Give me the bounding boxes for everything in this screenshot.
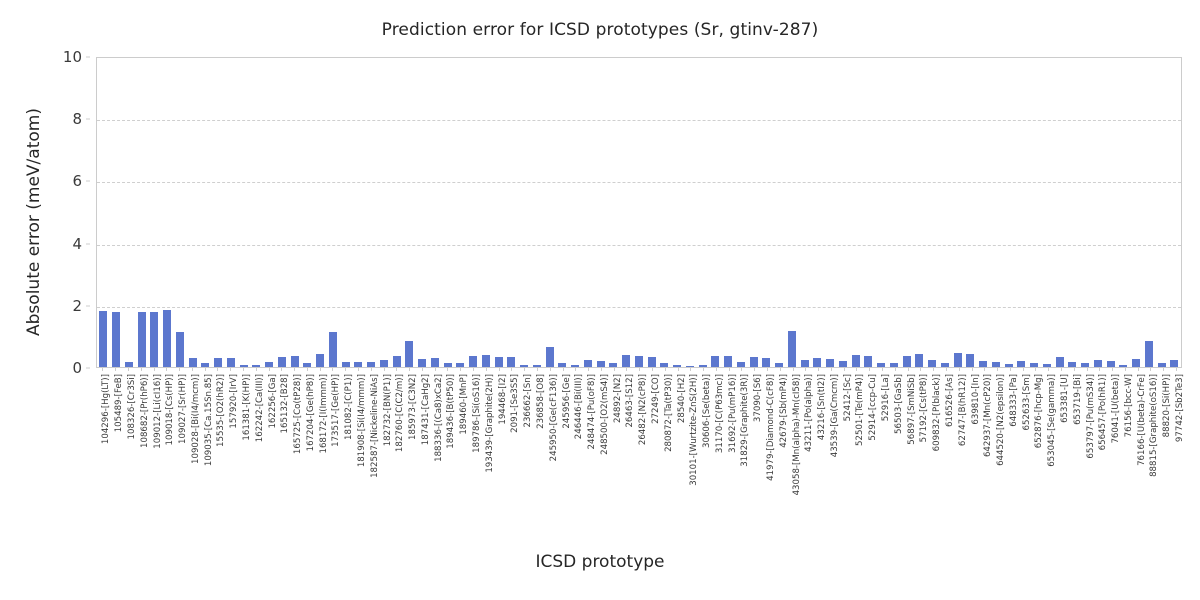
- bar-slot: [824, 58, 837, 367]
- bar[interactable]: [584, 360, 592, 367]
- bar[interactable]: [214, 358, 222, 367]
- x-tick-mark: [614, 368, 615, 371]
- bar[interactable]: [1043, 364, 1051, 367]
- bar-slot: [1079, 58, 1092, 367]
- bar[interactable]: [1068, 362, 1076, 367]
- bar[interactable]: [112, 312, 120, 367]
- x-tick-mark: [141, 368, 142, 371]
- x-tick: 76166-[U(beta)-CrFe]: [1131, 368, 1144, 518]
- x-tick-mark: [230, 368, 231, 371]
- x-tick: 76156-[bcc-W]: [1119, 368, 1132, 518]
- x-tick-mark: [371, 368, 372, 371]
- y-tick-label: 8: [72, 110, 82, 128]
- bar-slot: [684, 58, 697, 367]
- bar-slot: [339, 58, 352, 367]
- x-tick: 609832-[P(black)]: [927, 368, 940, 518]
- x-tick: 189436-[B(tP50)]: [441, 368, 454, 518]
- bar[interactable]: [597, 361, 605, 367]
- x-tick-mark: [1061, 368, 1062, 371]
- x-tick: 648333-[Pa]: [1003, 368, 1016, 518]
- bar[interactable]: [482, 355, 490, 367]
- bar[interactable]: [1119, 365, 1127, 367]
- bar[interactable]: [469, 356, 477, 368]
- bar-slot: [1117, 58, 1130, 367]
- x-tick-mark: [984, 368, 985, 371]
- y-tick-mark: [86, 243, 90, 244]
- bar[interactable]: [813, 358, 821, 367]
- x-tick: 57192-[Cs(tP8)]: [914, 368, 927, 518]
- bar[interactable]: [227, 358, 235, 367]
- bar-slot: [327, 58, 340, 367]
- x-tick: 248474-[Pu(oF8)]: [582, 368, 595, 518]
- chart-title: Prediction error for ICSD prototypes (Sr…: [0, 20, 1200, 40]
- bar[interactable]: [316, 354, 324, 367]
- bar-slot: [964, 58, 977, 367]
- bar-slot: [811, 58, 824, 367]
- x-tick-mark: [831, 368, 832, 371]
- x-tick: 652876-[hcp-Mg]: [1029, 368, 1042, 518]
- x-tick: 31170-[C(P63mc)]: [710, 368, 723, 518]
- bar[interactable]: [660, 363, 668, 367]
- x-tick-mark: [856, 368, 857, 371]
- x-tick: 28540-[H2]: [671, 368, 684, 518]
- bar[interactable]: [533, 365, 541, 367]
- bar[interactable]: [673, 365, 681, 367]
- bar-slot: [531, 58, 544, 367]
- bar[interactable]: [1170, 360, 1178, 367]
- bar-slot: [556, 58, 569, 367]
- bar-slot: [403, 58, 416, 367]
- bar[interactable]: [839, 361, 847, 367]
- bar-slot: [773, 58, 786, 367]
- x-tick-mark: [1048, 368, 1049, 371]
- x-tick-mark: [805, 368, 806, 371]
- x-tick-mark: [396, 368, 397, 371]
- bar-slot: [352, 58, 365, 367]
- y-tick-mark: [86, 119, 90, 120]
- bar[interactable]: [750, 357, 758, 367]
- x-tick: 245950-[Ge(cF136)]: [543, 368, 556, 518]
- x-tick: 97742-[Sb2Te3]: [1170, 368, 1183, 518]
- bar[interactable]: [941, 363, 949, 367]
- bar[interactable]: [1107, 361, 1115, 367]
- x-tick-mark: [690, 368, 691, 371]
- bar[interactable]: [240, 365, 248, 367]
- y-tick-label: 2: [72, 297, 82, 315]
- x-tick-mark: [294, 368, 295, 371]
- bar[interactable]: [762, 358, 770, 367]
- bar-slot: [569, 58, 582, 367]
- bar[interactable]: [431, 358, 439, 367]
- y-tick-label: 0: [72, 359, 82, 377]
- x-tick-mark: [703, 368, 704, 371]
- bar-slot: [110, 58, 123, 367]
- x-tick: 652633-[Sm]: [1016, 368, 1029, 518]
- x-axis-ticks: 104296-[Hg(LT)]105489-[FeB]108326-[Cr3Si…: [96, 368, 1182, 518]
- plot-area: [96, 57, 1182, 368]
- bar[interactable]: [992, 362, 1000, 367]
- x-tick: 616526-[As]: [940, 368, 953, 518]
- x-tick-mark: [626, 368, 627, 371]
- bar[interactable]: [495, 357, 503, 367]
- bar[interactable]: [954, 353, 962, 367]
- x-tick: 108326-[Cr3Si]: [122, 368, 135, 518]
- bar-slot: [505, 58, 518, 367]
- bar[interactable]: [201, 363, 209, 367]
- bar[interactable]: [418, 359, 426, 367]
- bar-slot: [747, 58, 760, 367]
- bar[interactable]: [737, 362, 745, 367]
- x-tick-mark: [550, 368, 551, 371]
- bar[interactable]: [342, 362, 350, 367]
- x-tick-mark: [409, 368, 410, 371]
- x-tick-mark: [1138, 368, 1139, 371]
- x-tick-mark: [818, 368, 819, 371]
- x-tick: 181082-[C(P1)]: [339, 368, 352, 518]
- x-tick: 104296-[Hg(LT)]: [96, 368, 109, 518]
- bar-slot: [263, 58, 276, 367]
- x-tick-mark: [384, 368, 385, 371]
- x-tick-mark: [524, 368, 525, 371]
- x-tick: 162242-[Ca(III)]: [249, 368, 262, 518]
- bar-slot: [518, 58, 531, 367]
- bar[interactable]: [648, 357, 656, 367]
- bar[interactable]: [903, 356, 911, 367]
- x-tick: 27249-[CO]: [646, 368, 659, 518]
- x-tick-mark: [128, 368, 129, 371]
- bar[interactable]: [915, 354, 923, 367]
- bar-slot: [990, 58, 1003, 367]
- bar[interactable]: [354, 362, 362, 367]
- bar-slot: [1015, 58, 1028, 367]
- x-axis-label: ICSD prototype: [0, 552, 1200, 572]
- bar-slot: [390, 58, 403, 367]
- bar[interactable]: [979, 361, 987, 367]
- x-tick-mark: [332, 368, 333, 371]
- x-tick-mark: [281, 368, 282, 371]
- x-tick: 31829-[Graphite(3R)]: [735, 368, 748, 518]
- x-tick-mark: [601, 368, 602, 371]
- bar-slot: [237, 58, 250, 367]
- bar-slot: [1104, 58, 1117, 367]
- bar[interactable]: [1158, 363, 1166, 367]
- x-tick: 109028-[Bi(I4/mcm)]: [185, 368, 198, 518]
- x-tick-mark: [767, 368, 768, 371]
- x-tick: 42679-[Sb(mP4)]: [773, 368, 786, 518]
- x-tick-mark: [1099, 368, 1100, 371]
- bar[interactable]: [724, 356, 732, 367]
- bar[interactable]: [864, 356, 872, 368]
- x-tick-mark: [115, 368, 116, 371]
- x-tick: 162256-[Ga]: [262, 368, 275, 518]
- x-tick: 52916-[La]: [876, 368, 889, 518]
- bar[interactable]: [138, 312, 146, 367]
- y-axis-ticks: 0246810: [0, 57, 90, 368]
- x-tick-mark: [741, 368, 742, 371]
- bar-slot: [837, 58, 850, 367]
- bar[interactable]: [571, 365, 579, 367]
- bar[interactable]: [558, 363, 566, 367]
- x-tick-mark: [652, 368, 653, 371]
- x-tick: 43216-[Sn(tI2)]: [812, 368, 825, 518]
- x-tick-mark: [882, 368, 883, 371]
- bar[interactable]: [252, 365, 260, 367]
- bar[interactable]: [99, 311, 107, 367]
- bar-slot: [1066, 58, 1079, 367]
- bar-slot: [429, 58, 442, 367]
- bar[interactable]: [456, 363, 464, 367]
- bar-slot: [888, 58, 901, 367]
- x-tick-mark: [793, 368, 794, 371]
- x-tick: 52412-[Sc]: [837, 368, 850, 518]
- bar[interactable]: [303, 363, 311, 367]
- bar-slot: [798, 58, 811, 367]
- bar-slot: [288, 58, 301, 367]
- x-tick-mark: [946, 368, 947, 371]
- bar-slot: [696, 58, 709, 367]
- bar[interactable]: [826, 359, 834, 367]
- bar[interactable]: [189, 358, 197, 367]
- bar-slot: [1053, 58, 1066, 367]
- x-tick: 189460-[MnP]: [454, 368, 467, 518]
- x-tick-mark: [460, 368, 461, 371]
- bar[interactable]: [176, 332, 184, 367]
- bar-slot: [148, 58, 161, 367]
- x-tick: 165725-[Co(tP28)]: [288, 368, 301, 518]
- x-tick-mark: [1150, 368, 1151, 371]
- x-tick-mark: [179, 368, 180, 371]
- bar-slot: [951, 58, 964, 367]
- bar-slot: [480, 58, 493, 367]
- x-tick: 245956-[Ge]: [556, 368, 569, 518]
- bar[interactable]: [1132, 359, 1140, 367]
- x-tick-mark: [205, 368, 206, 371]
- x-tick-mark: [511, 368, 512, 371]
- x-tick: 173517-[Ge(HP)]: [326, 368, 339, 518]
- x-tick: 182587-[Nickeline-NiAs]: [364, 368, 377, 518]
- bar[interactable]: [265, 362, 273, 367]
- bar-slot: [1155, 58, 1168, 367]
- x-tick: 185973-[C3N2]: [403, 368, 416, 518]
- bar-slot: [735, 58, 748, 367]
- bar[interactable]: [788, 331, 796, 367]
- x-tick: 182760-[C(C2/m)]: [390, 368, 403, 518]
- x-tick-mark: [447, 368, 448, 371]
- x-tick: 165132-[B28]: [275, 368, 288, 518]
- x-tick-mark: [869, 368, 870, 371]
- bar[interactable]: [1005, 364, 1013, 367]
- x-tick: 30606-[Se(beta)]: [697, 368, 710, 518]
- bar-slot: [378, 58, 391, 367]
- chart-figure: Prediction error for ICSD prototypes (Sr…: [0, 0, 1200, 600]
- bar[interactable]: [890, 363, 898, 367]
- x-tick-mark: [997, 368, 998, 371]
- bar[interactable]: [699, 365, 707, 367]
- bar-slot: [301, 58, 314, 367]
- bar-slot: [1130, 58, 1143, 367]
- x-tick-mark: [780, 368, 781, 371]
- bar-slot: [161, 58, 174, 367]
- x-tick-mark: [473, 368, 474, 371]
- bar[interactable]: [1017, 361, 1025, 367]
- y-tick-label: 4: [72, 235, 82, 253]
- bar[interactable]: [367, 362, 375, 367]
- bar-slot: [225, 58, 238, 367]
- bar-slot: [135, 58, 148, 367]
- bar-slot: [1168, 58, 1181, 367]
- x-tick: 52501-[Te(mP4)]: [850, 368, 863, 518]
- x-tick: 109012-[Li(cI16)]: [147, 368, 160, 518]
- x-tick-mark: [588, 368, 589, 371]
- bar[interactable]: [801, 360, 809, 367]
- bar[interactable]: [635, 356, 643, 367]
- x-tick: 76041-[U(beta)]: [1106, 368, 1119, 518]
- x-tick-mark: [1035, 368, 1036, 371]
- bar-slot: [416, 58, 429, 367]
- x-tick: 236858-[O8]: [531, 368, 544, 518]
- x-tick: 41979-[Diamond-C(cF8)]: [761, 368, 774, 518]
- x-tick-mark: [320, 368, 321, 371]
- bar-slot: [1041, 58, 1054, 367]
- y-tick-mark: [86, 368, 90, 369]
- bar-slot: [722, 58, 735, 367]
- x-tick-mark: [307, 368, 308, 371]
- x-tick-mark: [499, 368, 500, 371]
- bar-slot: [633, 58, 646, 367]
- x-tick-mark: [933, 368, 934, 371]
- bar[interactable]: [1030, 363, 1038, 367]
- bar[interactable]: [775, 363, 783, 367]
- x-tick-mark: [1087, 368, 1088, 371]
- bar[interactable]: [1145, 341, 1153, 367]
- bar[interactable]: [1081, 363, 1089, 367]
- x-tick-mark: [422, 368, 423, 371]
- bar[interactable]: [507, 357, 515, 367]
- bar-slot: [862, 58, 875, 367]
- x-tick: 37090-[S6]: [748, 368, 761, 518]
- x-tick-mark: [1010, 368, 1011, 371]
- bar[interactable]: [163, 310, 171, 367]
- bar-slot: [212, 58, 225, 367]
- bar-slot: [658, 58, 671, 367]
- x-tick: 653797-[Pu(mS34)]: [1080, 368, 1093, 518]
- x-tick: 248500-[O2(mS4)]: [594, 368, 607, 518]
- x-tick-mark: [358, 368, 359, 371]
- bar-slot: [186, 58, 199, 367]
- x-tick-mark: [908, 368, 909, 371]
- x-tick: 189786-[Si(oS16)]: [467, 368, 480, 518]
- x-tick: 187431-[CaHg2]: [416, 368, 429, 518]
- x-tick: 15535-[O2(hR2)]: [211, 368, 224, 518]
- x-tick: 167204-[Ge(hP8)]: [301, 368, 314, 518]
- x-tick: 644520-[N2(epsilon)]: [991, 368, 1004, 518]
- x-tick-mark: [537, 368, 538, 371]
- bar-slot: [314, 58, 327, 367]
- bar[interactable]: [622, 355, 630, 367]
- x-tick: 236662-[Sn]: [518, 368, 531, 518]
- x-tick: 88815-[Graphite(oS16)]: [1144, 368, 1157, 518]
- bar[interactable]: [711, 356, 719, 367]
- x-tick: 653719-[Bi]: [1067, 368, 1080, 518]
- bar[interactable]: [125, 362, 133, 367]
- bar-slot: [926, 58, 939, 367]
- x-tick: 194468-[I2]: [492, 368, 505, 518]
- y-tick-mark: [86, 57, 90, 58]
- x-tick: 157920-[IrV]: [224, 368, 237, 518]
- x-tick-mark: [154, 368, 155, 371]
- x-tick-mark: [665, 368, 666, 371]
- y-tick-mark: [86, 305, 90, 306]
- bar-slot: [250, 58, 263, 367]
- bar[interactable]: [150, 312, 158, 367]
- bar[interactable]: [1094, 360, 1102, 367]
- bar[interactable]: [546, 347, 554, 367]
- bar[interactable]: [686, 366, 694, 367]
- x-tick-mark: [754, 368, 755, 371]
- x-tick-mark: [895, 368, 896, 371]
- x-tick-mark: [1112, 368, 1113, 371]
- bar[interactable]: [405, 341, 413, 367]
- bar[interactable]: [278, 357, 286, 367]
- bar-slot: [875, 58, 888, 367]
- bar-slot: [467, 58, 480, 367]
- x-tick: 280872-[Ta(tP30)]: [658, 368, 671, 518]
- x-tick: 109018-[Cs(HP)]: [160, 368, 173, 518]
- bar-slot: [594, 58, 607, 367]
- bar[interactable]: [380, 360, 388, 367]
- x-tick: 181908-[Si(I4/mmm)]: [352, 368, 365, 518]
- bar-slot: [671, 58, 684, 367]
- x-tick-mark: [729, 368, 730, 371]
- x-tick-mark: [1074, 368, 1075, 371]
- bar[interactable]: [329, 332, 337, 367]
- bar[interactable]: [393, 356, 401, 367]
- bar[interactable]: [444, 363, 452, 367]
- x-tick-mark: [1023, 368, 1024, 371]
- bar-slot: [276, 58, 289, 367]
- bar-slot: [900, 58, 913, 367]
- bar-slot: [1092, 58, 1105, 367]
- bar-slot: [849, 58, 862, 367]
- bar-slot: [709, 58, 722, 367]
- bar[interactable]: [291, 356, 299, 368]
- x-tick-mark: [166, 368, 167, 371]
- x-tick: 26482-[N2(cP8)]: [633, 368, 646, 518]
- x-tick: 26463-[S12]: [620, 368, 633, 518]
- x-tick: 52914-[ccp-Cu]: [863, 368, 876, 518]
- x-tick-mark: [192, 368, 193, 371]
- y-tick-label: 6: [72, 172, 82, 190]
- bar[interactable]: [852, 355, 860, 367]
- bar-slot: [760, 58, 773, 367]
- x-tick: 105489-[FeB]: [109, 368, 122, 518]
- x-tick: 56897-[SmNiSb]: [901, 368, 914, 518]
- x-tick: 31692-[Pu(mP16)]: [722, 368, 735, 518]
- bar[interactable]: [520, 365, 528, 367]
- x-tick-mark: [639, 368, 640, 371]
- bar-slot: [97, 58, 110, 367]
- bar[interactable]: [877, 363, 885, 367]
- bar-slot: [543, 58, 556, 367]
- x-tick-mark: [575, 368, 576, 371]
- bar[interactable]: [1056, 357, 1064, 367]
- bar[interactable]: [609, 363, 617, 367]
- bar[interactable]: [928, 360, 936, 367]
- x-tick-mark: [102, 368, 103, 371]
- x-tick: 43539-[Ga(Cmcm)]: [825, 368, 838, 518]
- bar[interactable]: [966, 354, 974, 367]
- bar-slot: [174, 58, 187, 367]
